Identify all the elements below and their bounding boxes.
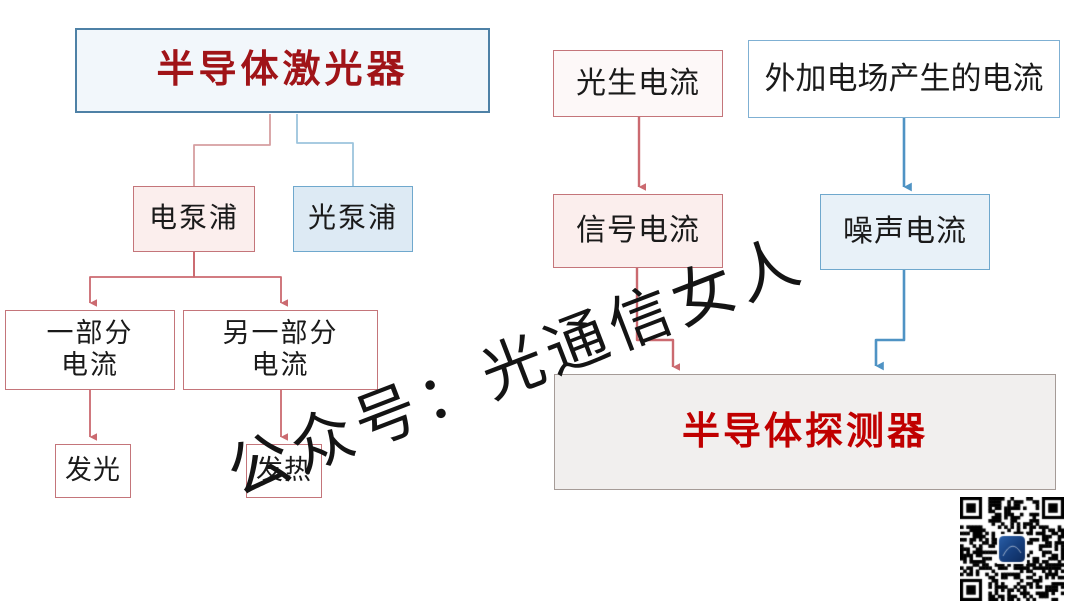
node-optical-pump-label: 光泵浦 [308, 202, 398, 235]
edge-title-to-optical-pump [297, 114, 353, 186]
node-detector[interactable]: 半导体探测器 [554, 374, 1056, 490]
edge-title-to-electric-pump [194, 114, 270, 186]
node-electric-pump-label: 电泵浦 [149, 202, 239, 235]
node-optical-pump[interactable]: 光泵浦 [293, 186, 413, 252]
node-detector-label: 半导体探测器 [682, 410, 928, 455]
edge-noise-current-to-detector [876, 270, 904, 366]
node-noise-current-label: 噪声电流 [843, 214, 967, 249]
node-current-part-a[interactable]: 一部分 电流 [5, 310, 175, 390]
node-emit-heat-label: 发热 [256, 455, 312, 487]
diagram-canvas: 半导体激光器 电泵浦 光泵浦 一部分 电流 另一部分 电流 发光 发热 光生电流… [0, 0, 1080, 608]
node-field-current[interactable]: 外加电场产生的电流 [748, 40, 1060, 118]
node-field-current-label: 外加电场产生的电流 [765, 61, 1044, 98]
qr-code-image [960, 497, 1064, 601]
edge-signal-current-to-detector [637, 268, 673, 367]
node-laser-title[interactable]: 半导体激光器 [75, 28, 490, 113]
node-signal-current[interactable]: 信号电流 [553, 194, 723, 268]
node-current-part-a-label: 一部分 电流 [47, 318, 134, 382]
node-emit-light-label: 发光 [65, 455, 121, 487]
node-laser-title-label: 半导体激光器 [156, 48, 408, 93]
node-current-part-b[interactable]: 另一部分 电流 [183, 310, 378, 390]
node-electric-pump[interactable]: 电泵浦 [133, 186, 255, 252]
edge-electric-pump-to-part-b [194, 252, 281, 303]
node-signal-current-label: 信号电流 [576, 213, 700, 248]
node-photocurrent[interactable]: 光生电流 [553, 50, 723, 117]
edge-electric-pump-to-part-a [90, 252, 194, 303]
node-emit-heat[interactable]: 发热 [246, 444, 322, 498]
node-photocurrent-label: 光生电流 [576, 66, 700, 101]
node-emit-light[interactable]: 发光 [55, 444, 131, 498]
node-current-part-b-label: 另一部分 电流 [223, 318, 339, 382]
qr-code[interactable] [960, 497, 1064, 601]
node-noise-current[interactable]: 噪声电流 [820, 194, 990, 270]
